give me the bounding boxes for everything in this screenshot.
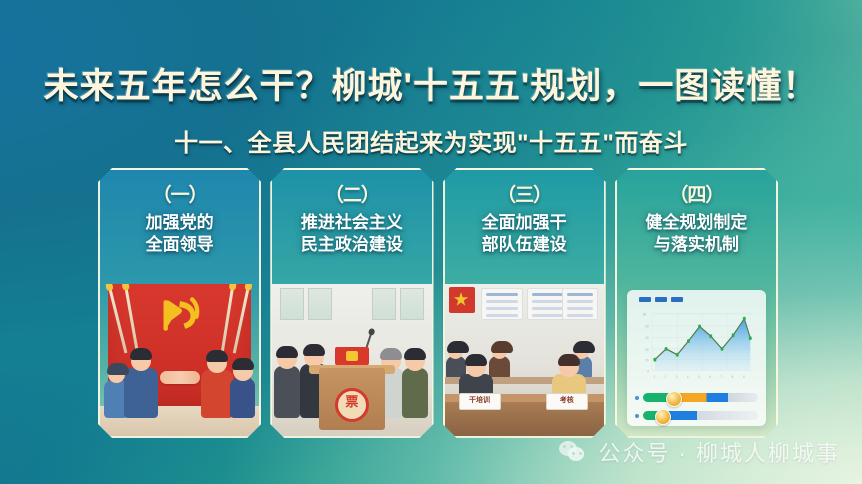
card-3-illustration: 干培训 考核 — [445, 284, 604, 436]
card-1-title-line1: 加强党的 — [100, 212, 259, 234]
card-item-2[interactable]: （二） 推进社会主义 民主政治建设 — [270, 168, 433, 438]
svg-text:40: 40 — [645, 336, 648, 340]
page-title: 未来五年怎么干？柳城'十五五'规划，一图读懂！ — [0, 58, 862, 109]
svg-text:3: 3 — [676, 375, 678, 379]
area-chart-svg: 605040 30200 123 456 789 — [637, 306, 756, 384]
slider-track[interactable] — [643, 411, 758, 420]
svg-text:50: 50 — [645, 324, 648, 328]
card-3-title-line1: 全面加强干 — [445, 212, 604, 234]
card-1-header: （一） 加强党的 全面领导 — [100, 170, 259, 257]
wall-board — [562, 288, 598, 320]
card-3-header: （三） 全面加强干 部队伍建设 — [445, 170, 604, 257]
card-1-illustration — [100, 284, 259, 436]
party-flag-icon — [449, 287, 475, 313]
window — [280, 288, 304, 320]
wall-board — [481, 288, 523, 320]
card-item-3[interactable]: （三） 全面加强干 部队伍建设 — [443, 168, 606, 438]
person-figure — [124, 351, 158, 418]
card-3-number: （三） — [445, 180, 604, 207]
card-item-4[interactable]: （四） 健全规划制定 与落实机制 — [615, 168, 778, 438]
svg-text:1: 1 — [653, 375, 655, 379]
chart-legend — [639, 297, 758, 302]
card-grid: （一） 加强党的 全面领导 — [98, 168, 778, 438]
person-figure — [402, 351, 428, 418]
svg-text:5: 5 — [698, 375, 700, 379]
card-4-title-line1: 健全规划制定 — [617, 212, 776, 234]
card-1-number: （一） — [100, 180, 259, 207]
svg-text:9: 9 — [743, 375, 745, 379]
card-4-number: （四） — [617, 180, 776, 207]
handshake-icon — [160, 371, 200, 384]
svg-text:60: 60 — [643, 312, 646, 316]
watermark-text: 公众号 · 柳城人柳城事 — [598, 436, 840, 468]
svg-text:6: 6 — [709, 375, 711, 379]
card-2-illustration: 票 — [272, 284, 431, 436]
svg-text:2: 2 — [664, 375, 666, 379]
window — [400, 288, 424, 320]
person-figure — [201, 353, 233, 418]
legend-swatch — [639, 297, 651, 302]
card-4-title: 健全规划制定 与落实机制 — [617, 212, 776, 257]
bullet-icon — [635, 396, 639, 400]
card-1-title-line2: 全面领导 — [100, 234, 259, 256]
progress-slider-2[interactable] — [635, 411, 758, 420]
card-4-title-line2: 与落实机制 — [617, 234, 776, 256]
ballot-box-icon — [335, 347, 369, 365]
watermark: 公众号 · 柳城人柳城事 — [559, 436, 840, 468]
legend-swatch — [655, 297, 667, 302]
card-3-title: 全面加强干 部队伍建设 — [445, 212, 604, 257]
card-item-1[interactable]: （一） 加强党的 全面领导 — [98, 168, 261, 438]
card-4-header: （四） 健全规划制定 与落实机制 — [617, 170, 776, 257]
legend-swatch — [671, 297, 683, 302]
nameplate-left: 干培训 — [459, 393, 501, 410]
wechat-icon — [559, 441, 589, 463]
progress-slider-1[interactable] — [635, 393, 758, 402]
svg-text:4: 4 — [687, 375, 689, 379]
nameplate-right: 考核 — [546, 393, 588, 410]
area-chart: 605040 30200 123 456 789 — [637, 306, 756, 384]
svg-text:7: 7 — [720, 375, 722, 379]
card-3-title-line2: 部队伍建设 — [445, 234, 604, 256]
card-2-title: 推进社会主义 民主政治建设 — [272, 212, 431, 257]
svg-text:20: 20 — [645, 358, 648, 362]
window — [308, 288, 332, 320]
card-2-number: （二） — [272, 180, 431, 207]
page-subtitle: 十一、全县人民团结起来为实现"十五五"而奋斗 — [0, 123, 862, 158]
party-emblem-icon — [154, 292, 206, 338]
ballot-seal: 票 — [335, 388, 369, 422]
bullet-icon — [635, 414, 639, 418]
podium: 票 — [319, 368, 385, 430]
card-1-title: 加强党的 全面领导 — [100, 212, 259, 257]
card-4-illustration: 605040 30200 123 456 789 — [617, 284, 776, 436]
dashboard-panel: 605040 30200 123 456 789 — [627, 290, 766, 426]
svg-text:8: 8 — [731, 375, 733, 379]
card-2-title-line1: 推进社会主义 — [272, 212, 431, 234]
window — [372, 288, 396, 320]
card-2-header: （二） 推进社会主义 民主政治建设 — [272, 170, 431, 257]
poster-canvas: 未来五年怎么干？柳城'十五五'规划，一图读懂！ 十一、全县人民团结起来为实现"十… — [0, 0, 862, 484]
slider-handle[interactable] — [655, 409, 671, 425]
svg-text:30: 30 — [645, 347, 648, 351]
card-2-title-line2: 民主政治建设 — [272, 234, 431, 256]
title-block: 未来五年怎么干？柳城'十五五'规划，一图读懂！ 十一、全县人民团结起来为实现"十… — [0, 58, 862, 158]
slider-track[interactable] — [643, 393, 758, 402]
person-figure — [274, 349, 300, 418]
slider-handle[interactable] — [666, 391, 682, 407]
person-figure — [230, 361, 255, 418]
svg-text:0: 0 — [647, 369, 649, 373]
